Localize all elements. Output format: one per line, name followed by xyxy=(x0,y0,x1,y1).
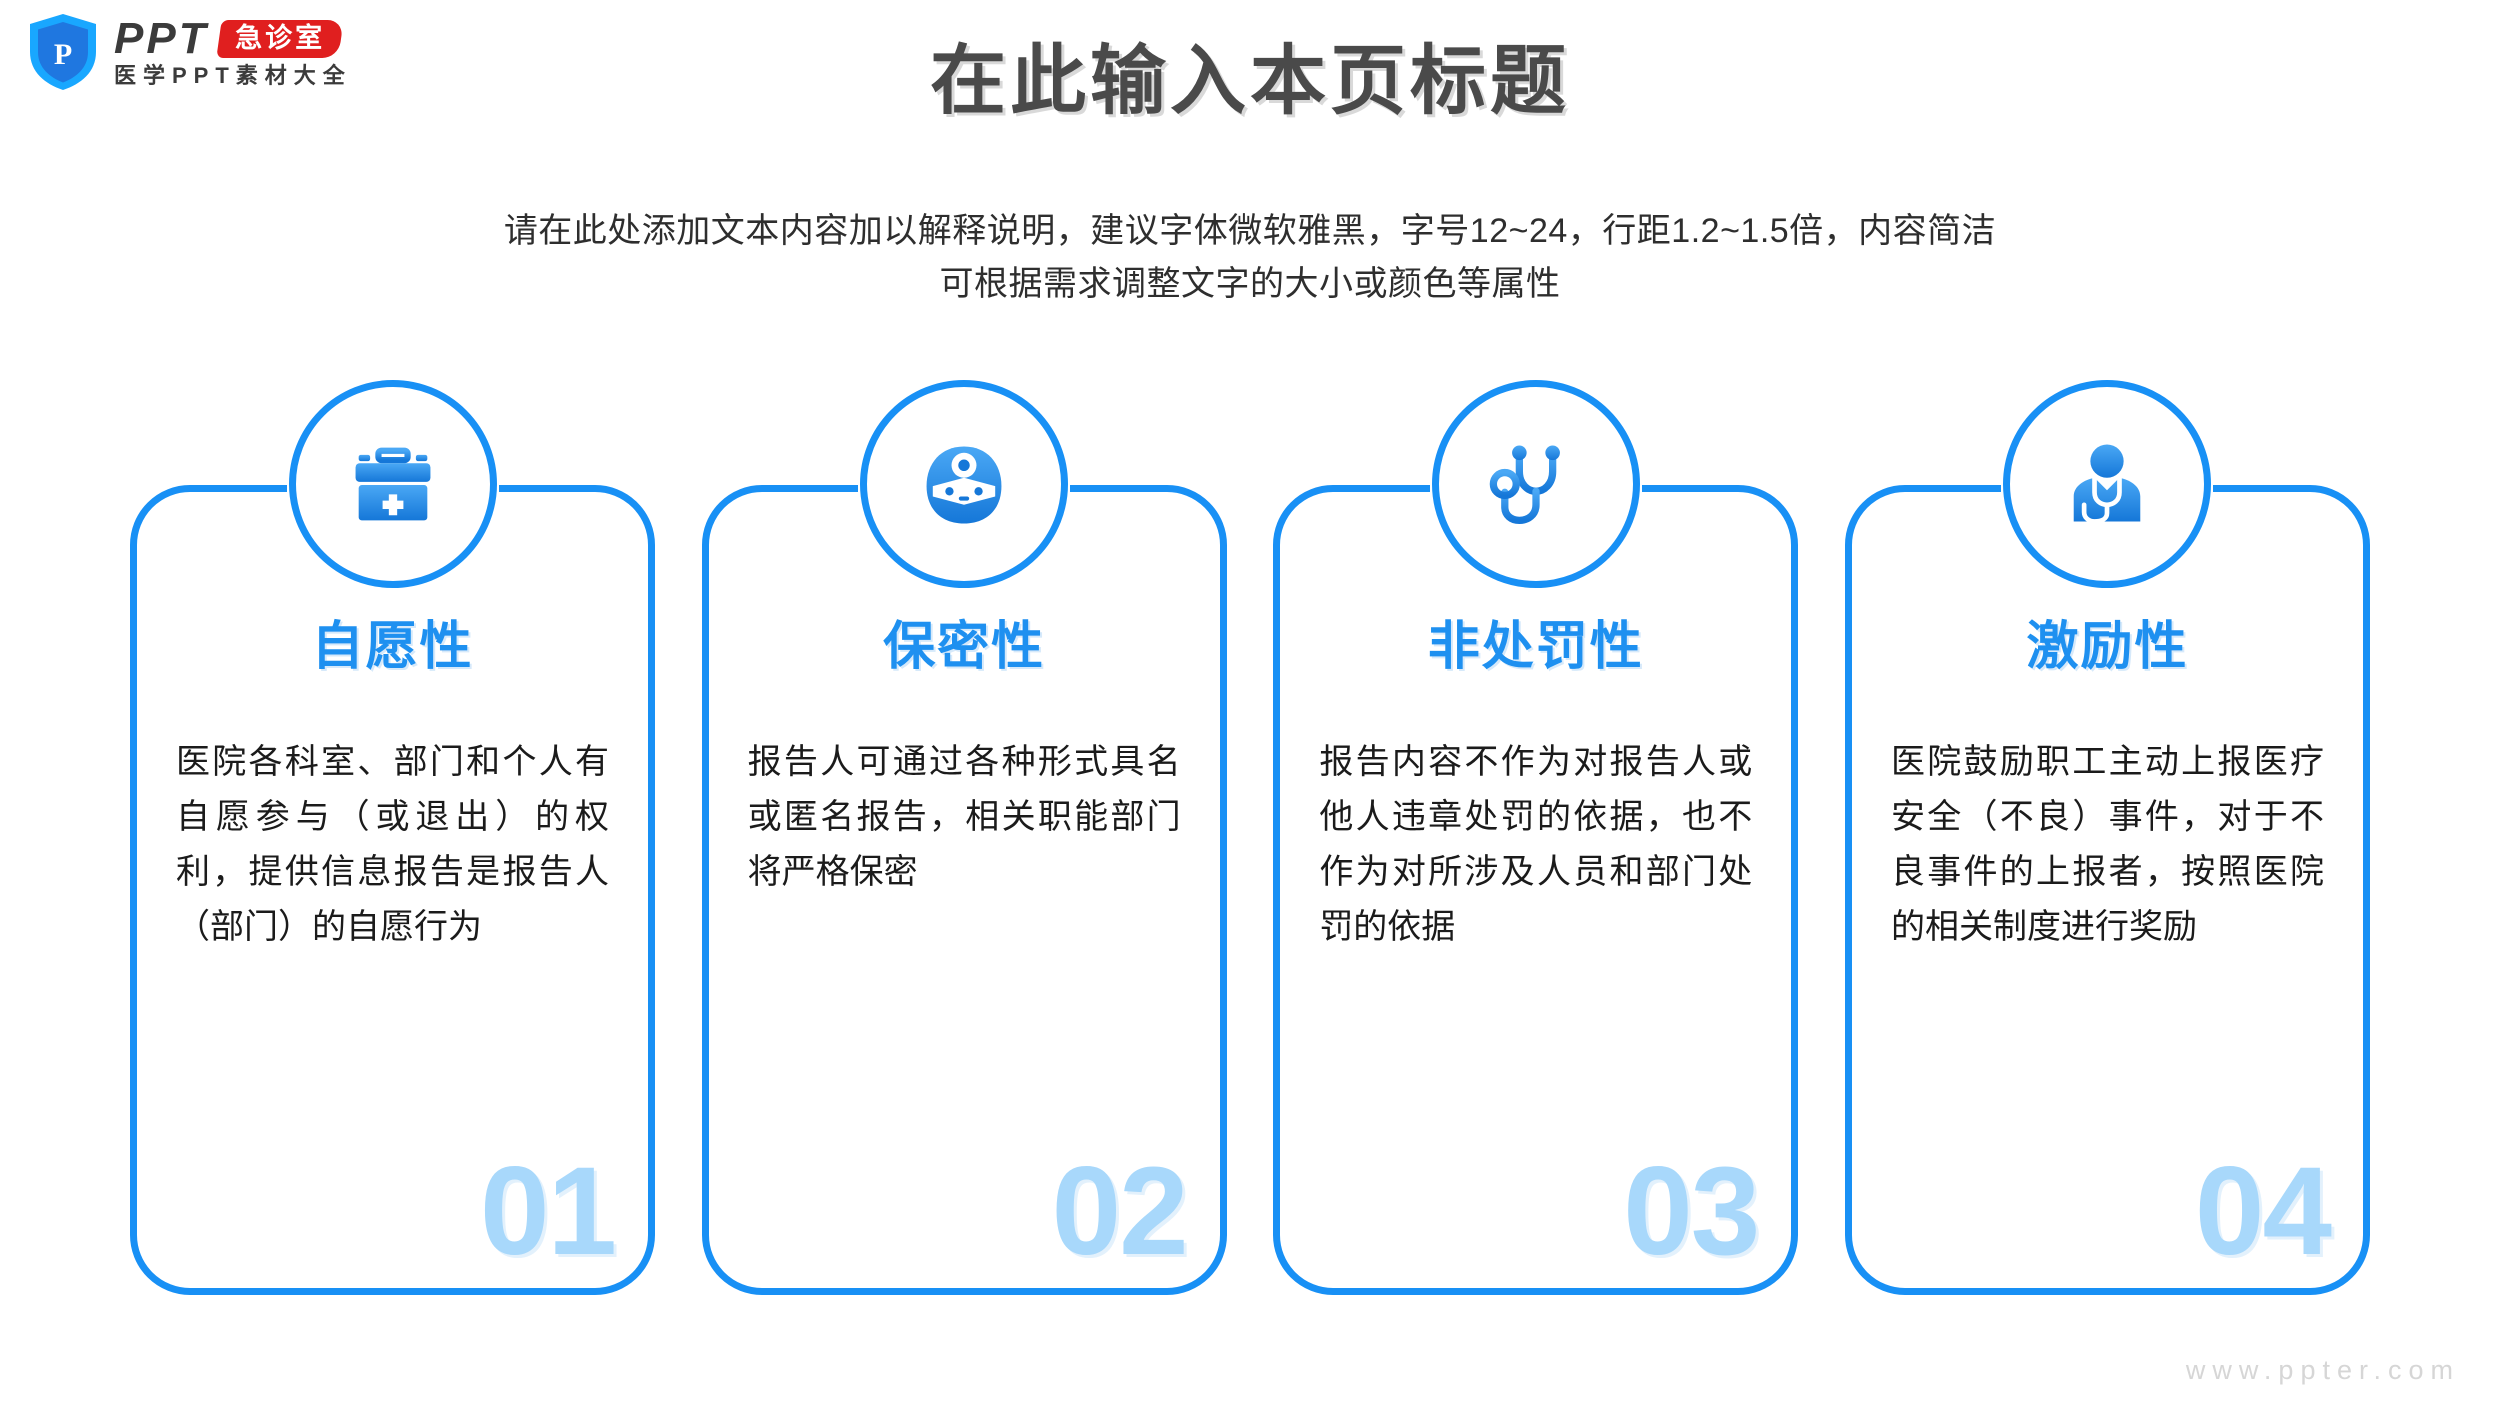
card-icon-circle xyxy=(1432,380,1640,588)
card-number: 04 xyxy=(2195,1149,2330,1274)
doctor-person-icon xyxy=(2055,432,2159,536)
feature-card[interactable]: 保密性 报告人可通过各种形式具名或匿名报告，相关职能部门将严格保密 02 xyxy=(702,380,1227,1300)
card-heading: 激励性 xyxy=(2026,621,2188,673)
card-heading: 非处罚性 xyxy=(1428,621,1644,673)
page-title: 在此输入本页标题 xyxy=(0,38,2500,125)
feature-card[interactable]: 激励性 医院鼓励职工主动上报医疗安全（不良）事件，对于不良事件的上报者，按照医院… xyxy=(1845,380,2370,1300)
subtitle-line-2: 可根据需求调整文字的大小或颜色等属性 xyxy=(0,258,2500,311)
doctor-face-icon xyxy=(912,432,1016,536)
card-heading: 保密性 xyxy=(883,621,1045,673)
medical-kit-icon xyxy=(341,432,445,536)
feature-card[interactable]: 非处罚性 报告内容不作为对报告人或他人违章处罚的依据，也不作为对所涉及人员和部门… xyxy=(1273,380,1798,1300)
card-number: 03 xyxy=(1623,1149,1758,1274)
card-text: 报告人可通过各种形式具名或匿名报告，相关职能部门将严格保密 xyxy=(748,735,1181,900)
card-number: 01 xyxy=(480,1149,615,1274)
feature-card[interactable]: 自愿性 医院各科室、部门和个人有自愿参与（或退出）的权利，提供信息报告是报告人（… xyxy=(130,380,655,1300)
page-subtitle: 请在此处添加文本内容加以解释说明，建议字体微软雅黑，字号12~24，行距1.2~… xyxy=(0,205,2500,310)
site-watermark: www.ppter.com xyxy=(2186,1357,2460,1384)
card-text: 医院各科室、部门和个人有自愿参与（或退出）的权利，提供信息报告是报告人（部门）的… xyxy=(176,735,609,955)
card-text: 医院鼓励职工主动上报医疗安全（不良）事件，对于不良事件的上报者，按照医院的相关制… xyxy=(1891,735,2324,955)
card-number: 02 xyxy=(1052,1149,1187,1274)
card-text: 报告内容不作为对报告人或他人违章处罚的依据，也不作为对所涉及人员和部门处罚的依据 xyxy=(1319,735,1752,955)
card-icon-circle xyxy=(2003,380,2211,588)
subtitle-line-1: 请在此处添加文本内容加以解释说明，建议字体微软雅黑，字号12~24，行距1.2~… xyxy=(0,205,2500,258)
card-icon-circle xyxy=(860,380,1068,588)
card-heading: 自愿性 xyxy=(311,621,473,673)
feature-card-row: 自愿性 医院各科室、部门和个人有自愿参与（或退出）的权利，提供信息报告是报告人（… xyxy=(130,380,2370,1300)
slide-canvas: P PPT 急诊室 医学PPT素材大全 在此输入本页标题 请在此处添加文本内容加… xyxy=(0,0,2500,1406)
stethoscope-icon xyxy=(1484,432,1588,536)
card-icon-circle xyxy=(289,380,497,588)
